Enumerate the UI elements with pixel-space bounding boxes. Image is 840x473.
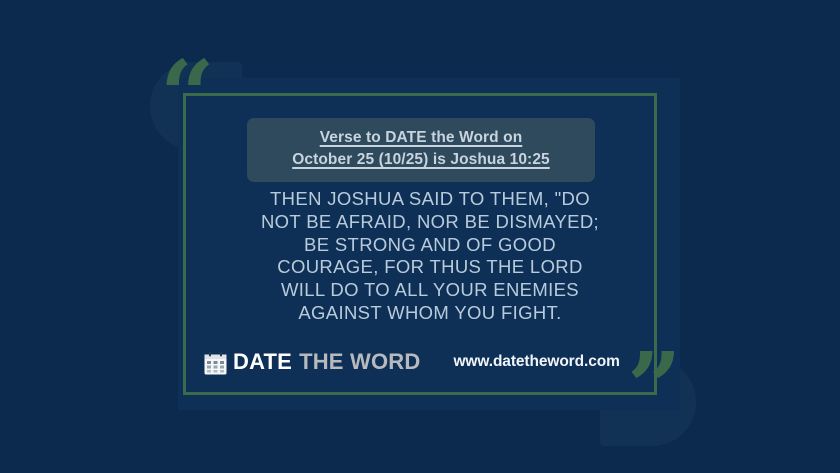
verse-line: BE STRONG AND OF GOOD xyxy=(200,234,660,257)
verse-line: NOT BE AFRAID, NOR BE DISMAYED; xyxy=(200,211,660,234)
badge-line-1: Verse to DATE the Word on xyxy=(261,127,581,149)
brand-wordmark: DATETHE WORD xyxy=(233,349,420,375)
verse-line: AGAINST WHOM YOU FIGHT. xyxy=(200,302,660,325)
verse-text-block: THEN JOSHUA SAID TO THEM, "DO NOT BE AFR… xyxy=(200,188,660,325)
open-quote-icon: “ xyxy=(160,48,215,143)
poster-canvas: “ ” Verse to DATE the Word on October 25… xyxy=(0,0,840,473)
verse-line: THEN JOSHUA SAID TO THEM, "DO xyxy=(200,188,660,211)
verse-line: WILL DO TO ALL YOUR ENEMIES xyxy=(200,279,660,302)
badge-line-2: October 25 (10/25) is Joshua 10:25 xyxy=(261,149,581,171)
verse-reference-badge: Verse to DATE the Word on October 25 (10… xyxy=(247,118,595,182)
brand-primary-text: DATE xyxy=(233,349,292,374)
verse-line: COURAGE, FOR THUS THE LORD xyxy=(200,256,660,279)
calendar-icon xyxy=(203,351,228,376)
website-url: www.datetheword.com xyxy=(453,353,619,371)
brand-secondary-text: THE WORD xyxy=(299,349,420,374)
footer-bar: DATETHE WORD www.datetheword.com xyxy=(203,345,653,379)
